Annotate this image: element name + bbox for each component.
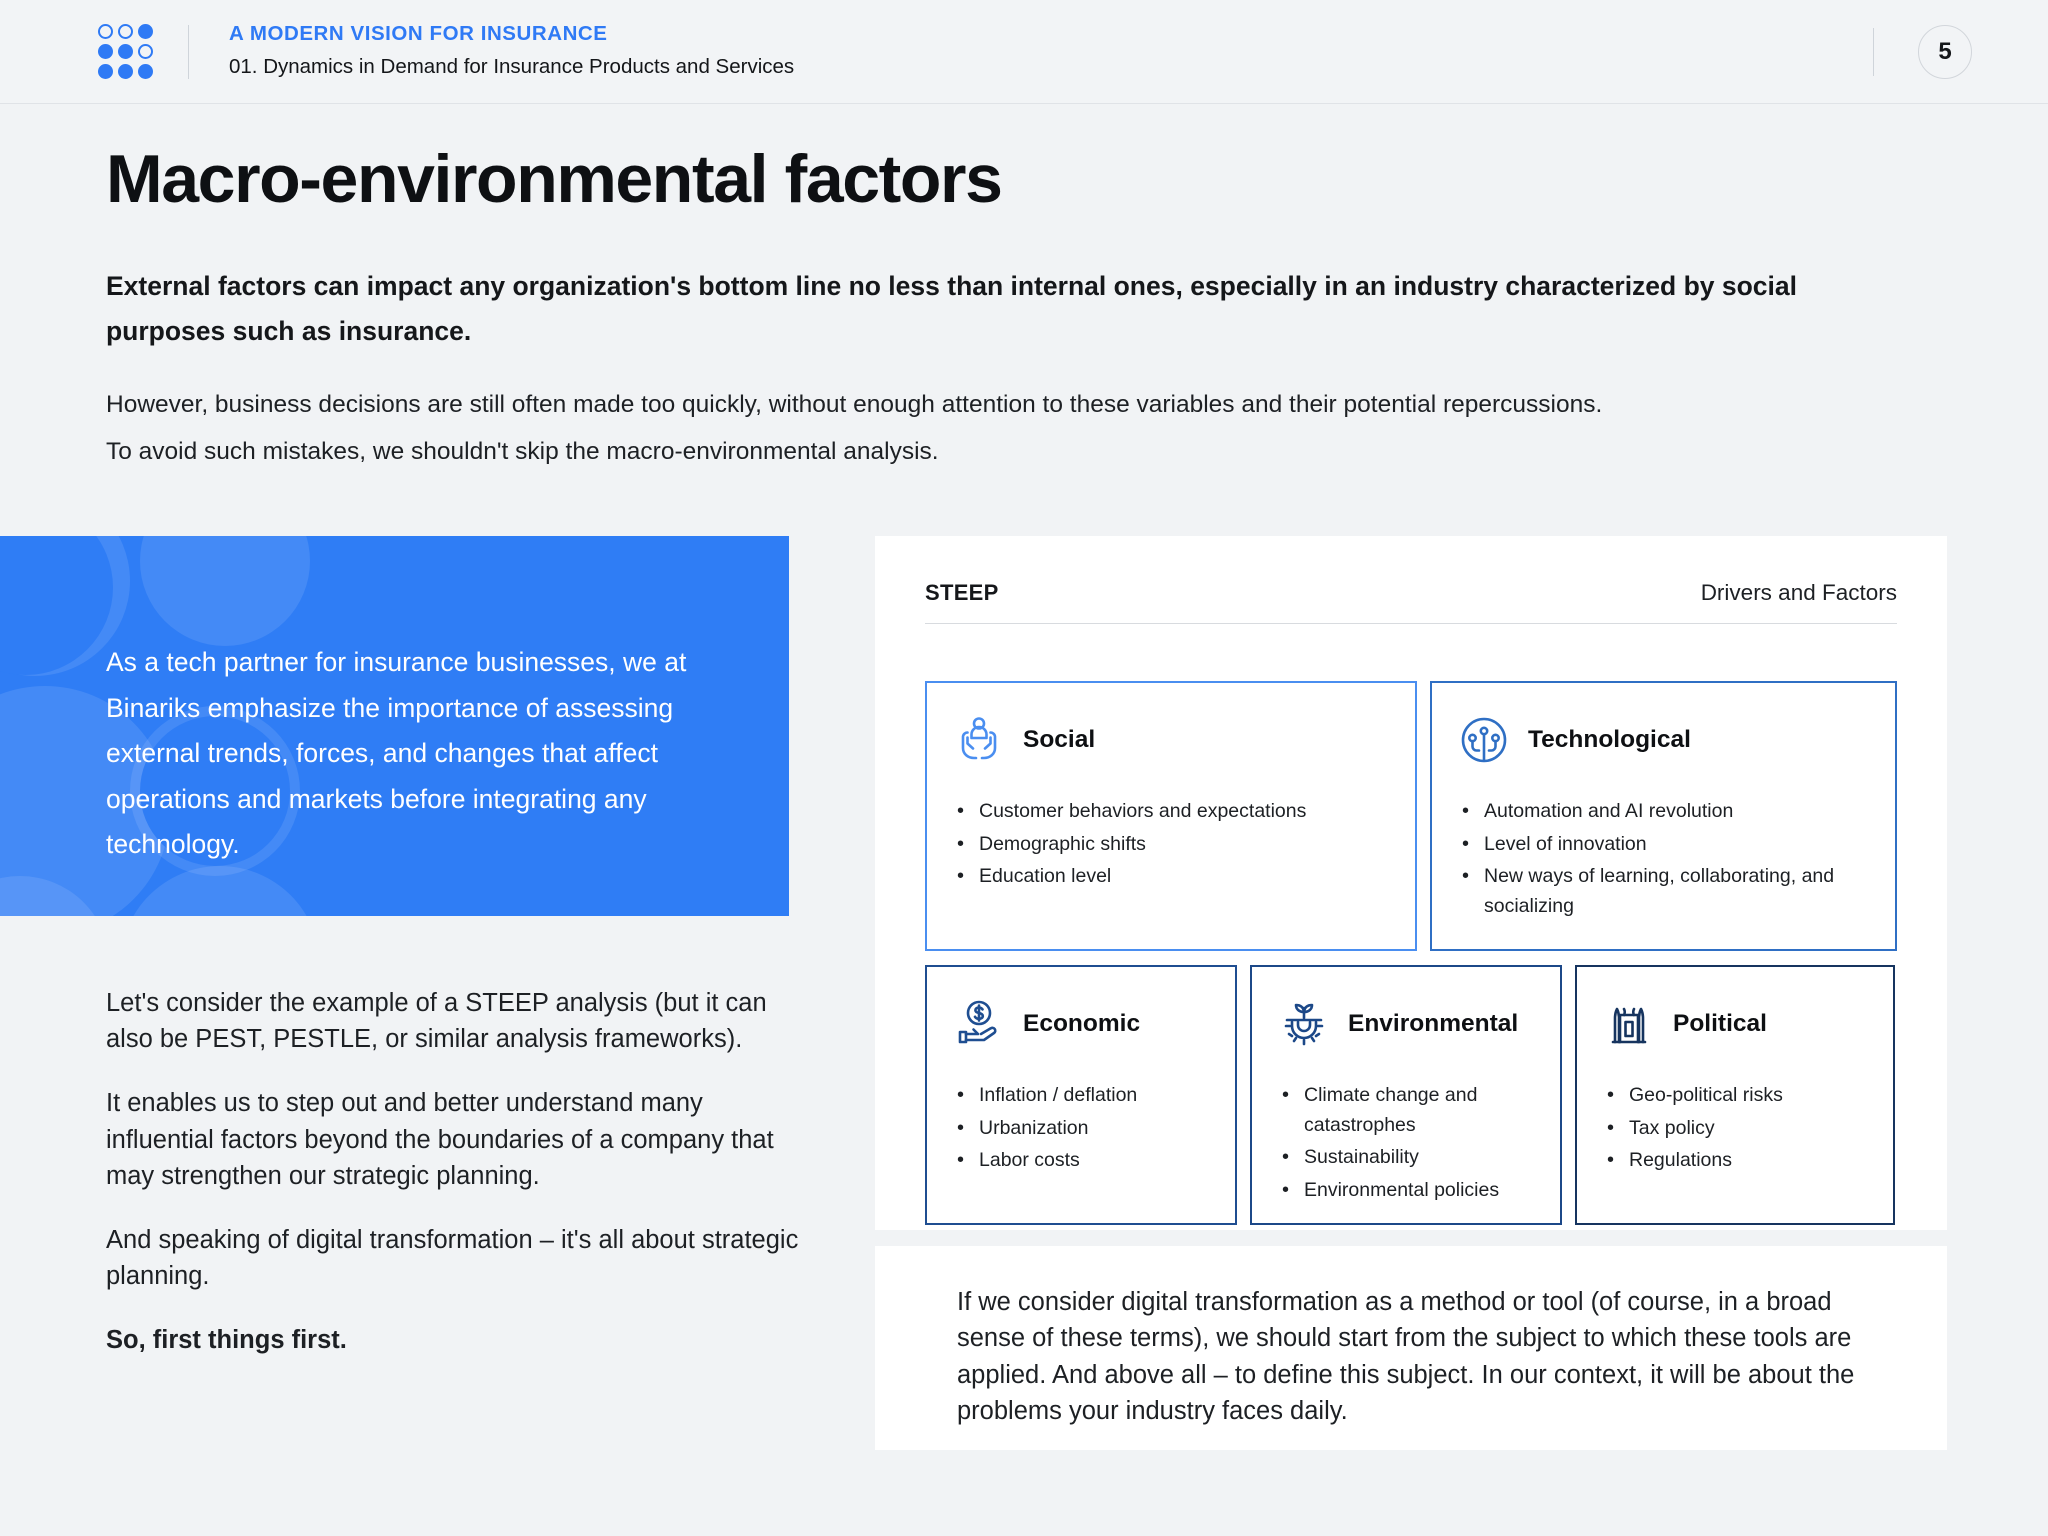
- bottom-note-panel: If we consider digital transformation as…: [875, 1246, 1947, 1450]
- list-item: New ways of learning, collaborating, and…: [1458, 862, 1869, 921]
- steep-card-political[interactable]: Political Geo-political risks Tax policy…: [1575, 965, 1895, 1225]
- card-bullet-list: Geo-political risks Tax policy Regulatio…: [1603, 1081, 1867, 1176]
- steep-card-economic[interactable]: Economic Inflation / deflation Urbanizat…: [925, 965, 1237, 1225]
- binariks-dot-logo: [98, 24, 154, 79]
- logo-dot: [138, 64, 153, 79]
- card-title: Environmental: [1348, 1010, 1518, 1038]
- steep-row-bottom: Economic Inflation / deflation Urbanizat…: [925, 965, 1897, 1225]
- steep-card-grid: Social Customer behaviors and expectatio…: [925, 681, 1897, 1225]
- logo-dot: [98, 44, 113, 59]
- lead-paragraph: External factors can impact any organiza…: [106, 264, 1806, 353]
- card-bullet-list: Climate change and catastrophes Sustaina…: [1278, 1081, 1534, 1206]
- quote-text: As a tech partner for insurance business…: [106, 640, 731, 868]
- steep-panel: STEEP Drivers and Factors: [875, 536, 1947, 1230]
- bottom-note-text: If we consider digital transformation as…: [957, 1284, 1867, 1430]
- card-bullet-list: Inflation / deflation Urbanization Labor…: [953, 1081, 1209, 1176]
- logo-dot: [118, 24, 133, 39]
- steep-card-technological[interactable]: Technological Automation and AI revoluti…: [1430, 681, 1897, 951]
- list-item: Climate change and catastrophes: [1278, 1081, 1534, 1140]
- circuit-circle-icon: [1458, 714, 1510, 766]
- hands-holding-person-icon: [953, 714, 1005, 766]
- card-header: Social: [953, 705, 1389, 775]
- left-paragraph-1: Let's consider the example of a STEEP an…: [106, 985, 806, 1057]
- steep-panel-header: STEEP Drivers and Factors: [925, 580, 1897, 624]
- card-title: Political: [1673, 1010, 1767, 1038]
- drivers-and-factors-label: Drivers and Factors: [1701, 580, 1897, 606]
- card-header: Environmental: [1278, 989, 1534, 1059]
- list-item: Automation and AI revolution: [1458, 797, 1869, 827]
- steep-row-top: Social Customer behaviors and expectatio…: [925, 681, 1897, 951]
- list-item: Customer behaviors and expectations: [953, 797, 1389, 827]
- list-item: Demographic shifts: [953, 830, 1389, 860]
- list-item: Regulations: [1603, 1146, 1867, 1176]
- list-item: Labor costs: [953, 1146, 1209, 1176]
- card-title: Social: [1023, 726, 1095, 754]
- left-paragraph-3: And speaking of digital transformation –…: [106, 1222, 806, 1294]
- logo-dot: [98, 64, 113, 79]
- list-item: Geo-political risks: [1603, 1081, 1867, 1111]
- list-item: Tax policy: [1603, 1114, 1867, 1144]
- header-right: 5: [1873, 0, 1972, 104]
- steep-label: STEEP: [925, 580, 999, 606]
- list-item: Inflation / deflation: [953, 1081, 1209, 1111]
- decorative-circle: [140, 536, 310, 646]
- header-divider: [188, 25, 189, 79]
- card-title: Economic: [1023, 1010, 1140, 1038]
- card-header: Technological: [1458, 705, 1869, 775]
- slide: A MODERN VISION FOR INSURANCE 01. Dynami…: [0, 0, 2048, 1536]
- card-bullet-list: Customer behaviors and expectations Demo…: [953, 797, 1389, 892]
- list-item: Level of innovation: [1458, 830, 1869, 860]
- page-title: Macro-environmental factors: [106, 140, 1002, 218]
- list-item: Environmental policies: [1278, 1176, 1534, 1206]
- list-item: Sustainability: [1278, 1143, 1534, 1173]
- logo-dot: [118, 44, 133, 59]
- section-title: 01. Dynamics in Demand for Insurance Pro…: [229, 52, 794, 83]
- list-item: Urbanization: [953, 1114, 1209, 1144]
- card-title: Technological: [1528, 726, 1691, 754]
- logo-dot: [118, 64, 133, 79]
- hand-holding-dollar-coin-icon: [953, 998, 1005, 1050]
- plant-in-gear-icon: [1278, 998, 1330, 1050]
- logo-dot: [98, 24, 113, 39]
- left-column-text: Let's consider the example of a STEEP an…: [106, 985, 806, 1359]
- steep-card-environmental[interactable]: Environmental Climate change and catastr…: [1250, 965, 1562, 1225]
- left-paragraph-2: It enables us to step out and better und…: [106, 1085, 806, 1194]
- body-paragraph-1: However, business decisions are still of…: [106, 386, 1906, 423]
- government-building-icon: [1603, 998, 1655, 1050]
- card-bullet-list: Automation and AI revolution Level of in…: [1458, 797, 1869, 922]
- left-paragraph-4: So, first things first.: [106, 1322, 806, 1358]
- body-paragraph-2: To avoid such mistakes, we shouldn't ski…: [106, 433, 1906, 470]
- card-header: Economic: [953, 989, 1209, 1059]
- decorative-circle: [0, 536, 113, 675]
- logo-dot: [138, 24, 153, 39]
- list-item: Education level: [953, 862, 1389, 892]
- deck-title: A MODERN VISION FOR INSURANCE: [229, 20, 794, 48]
- page-number-badge: 5: [1918, 25, 1972, 79]
- card-header: Political: [1603, 989, 1867, 1059]
- header-right-divider: [1873, 28, 1874, 76]
- header-text-block: A MODERN VISION FOR INSURANCE 01. Dynami…: [229, 20, 794, 83]
- logo-dot: [138, 44, 153, 59]
- steep-card-social[interactable]: Social Customer behaviors and expectatio…: [925, 681, 1417, 951]
- slide-header: A MODERN VISION FOR INSURANCE 01. Dynami…: [0, 0, 2048, 104]
